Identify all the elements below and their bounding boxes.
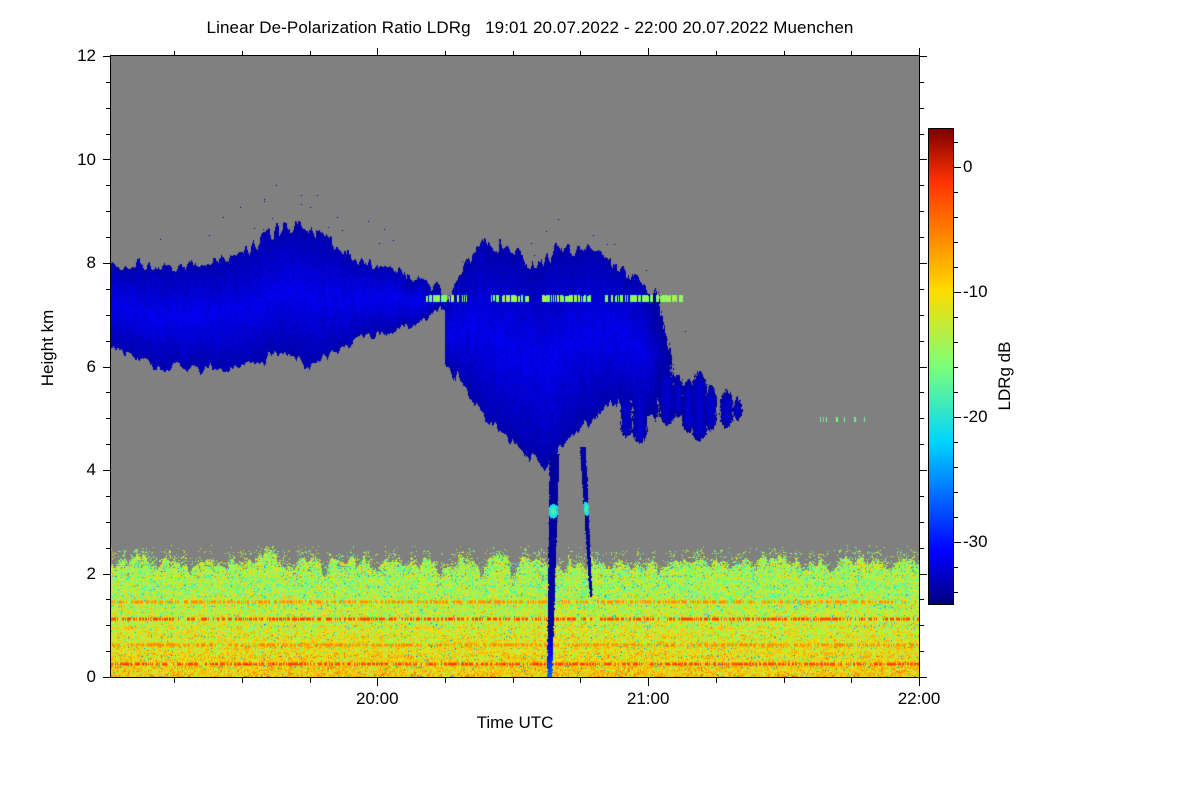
y-tick-right [919,108,924,109]
colorbar-tick [954,342,958,343]
y-tick-right [919,289,924,290]
x-tick-top [851,51,852,56]
y-tick [106,418,111,419]
y-tick-label: 10 [77,151,96,168]
x-tick-top [648,48,649,56]
x-tick-top [242,51,243,56]
colorbar-tick [954,442,958,443]
y-tick [106,496,111,497]
y-tick-label: 6 [87,358,96,375]
page-title: Linear De-Polarization Ratio LDRg 19:01 … [0,18,1060,38]
y-tick [106,444,111,445]
x-tick [648,678,649,686]
x-tick-top [580,51,581,56]
colorbar-tick [954,417,961,418]
y-tick-right [919,496,924,497]
x-tick [716,678,717,683]
colorbar-tick [954,517,958,518]
x-tick-top [377,48,378,56]
colorbar-tick [954,167,961,168]
y-tick [106,548,111,549]
colorbar-tick [954,267,958,268]
x-tick [580,678,581,683]
colorbar-tick [954,542,961,543]
y-tick-right [919,367,927,368]
x-tick-label: 20:00 [356,690,399,707]
y-tick-right [919,263,927,264]
y-tick [103,677,111,678]
y-tick [106,625,111,626]
y-tick-label: 12 [77,47,96,64]
y-tick [106,599,111,600]
x-axis-title: Time UTC [110,713,920,733]
colorbar-tick [954,367,958,368]
y-tick [106,185,111,186]
colorbar-tick [954,317,958,318]
y-tick [106,134,111,135]
y-tick-right [919,599,924,600]
y-tick [106,315,111,316]
y-tick [103,574,111,575]
x-tick-label: 21:00 [627,690,670,707]
colorbar-tick [954,492,958,493]
y-tick-right [919,56,927,57]
y-tick [106,108,111,109]
x-tick [174,678,175,683]
y-tick-right [919,341,924,342]
x-tick-top [174,51,175,56]
y-tick [103,470,111,471]
y-tick-right [919,444,924,445]
y-tick [106,237,111,238]
x-tick-top [513,51,514,56]
y-tick-label: 4 [87,461,96,478]
figure-root: Linear De-Polarization Ratio LDRg 19:01 … [0,0,1200,800]
x-tick [242,678,243,683]
x-tick [851,678,852,683]
y-tick-right [919,625,924,626]
y-tick [106,82,111,83]
colorbar-tick [954,142,958,143]
y-tick-right [919,211,924,212]
colorbar-tick-label: 0 [963,158,972,175]
y-tick [106,341,111,342]
y-tick-right [919,82,924,83]
y-tick [106,289,111,290]
y-tick-right [919,134,924,135]
y-axis-title: Height km [38,278,58,418]
y-tick-right [919,315,924,316]
y-tick-right [919,677,927,678]
y-tick-right [919,522,924,523]
colorbar-tick-label: -30 [963,533,988,550]
y-tick-label: 2 [87,565,96,582]
y-tick-right [919,470,927,471]
y-tick-right [919,418,924,419]
y-tick-label: 8 [87,254,96,271]
colorbar-tick [954,592,958,593]
y-tick-right [919,237,924,238]
y-tick-right [919,159,927,160]
y-tick-right [919,392,924,393]
colorbar-tick [954,567,958,568]
colorbar-tick [954,392,958,393]
colorbar[interactable] [928,128,954,605]
x-tick [445,678,446,683]
colorbar-gradient-canvas [929,129,953,604]
y-tick [103,159,111,160]
colorbar-tick [954,242,958,243]
y-tick-label: 0 [87,668,96,685]
x-tick [919,678,920,686]
x-tick-top [784,51,785,56]
colorbar-tick [954,192,958,193]
x-tick [377,678,378,686]
x-tick-top [310,51,311,56]
radar-heatmap-canvas [111,56,919,677]
x-tick-top [716,51,717,56]
x-tick-top [919,48,920,56]
x-tick [310,678,311,683]
x-tick [513,678,514,683]
y-tick [106,522,111,523]
x-tick-label: 22:00 [898,690,941,707]
colorbar-tick-label: -20 [963,408,988,425]
colorbar-title: LDRg dB [995,306,1015,446]
colorbar-tick [954,217,958,218]
colorbar-tick [954,467,958,468]
y-tick-right [919,548,924,549]
y-tick [103,56,111,57]
y-tick [103,263,111,264]
x-tick-top [445,51,446,56]
y-tick [106,211,111,212]
y-tick-right [919,185,924,186]
y-tick [106,392,111,393]
colorbar-tick-label: -10 [963,283,988,300]
colorbar-tick [954,292,961,293]
y-tick-right [919,651,924,652]
y-tick [106,651,111,652]
y-tick-right [919,574,927,575]
radar-plot-area[interactable] [110,55,920,678]
y-tick [103,367,111,368]
x-tick [784,678,785,683]
